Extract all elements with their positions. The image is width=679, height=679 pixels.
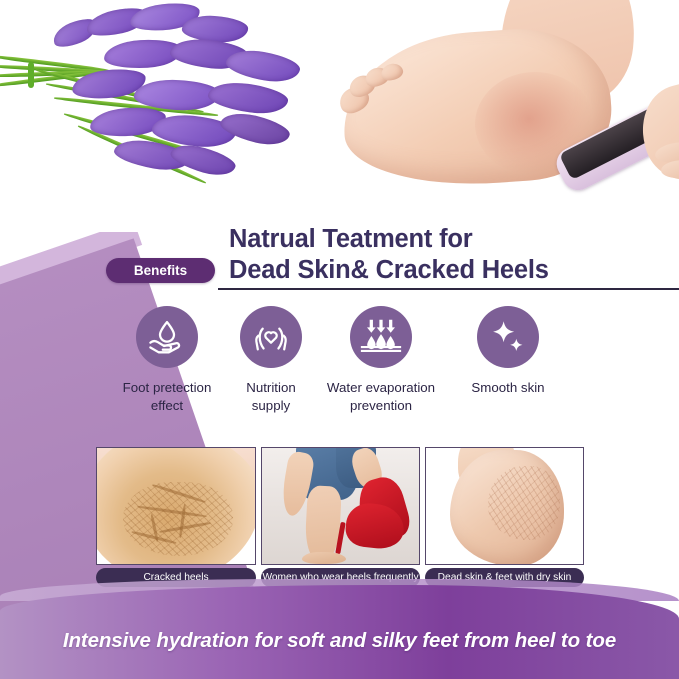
headline-line-2: Dead Skin& Cracked Heels	[229, 255, 659, 286]
benefit-item-nutrition-supply: Nutrition supply	[228, 306, 314, 414]
benefit-label: Water evaporation prevention	[327, 379, 435, 414]
benefit-label: Smooth skin	[471, 379, 544, 397]
sparkle-shine-icon	[477, 306, 539, 368]
foot-with-file-photo	[325, 0, 679, 232]
card-women-wear-heels: Women who wear heels frequently	[261, 447, 420, 587]
benefit-item-water-evaporation: Water evaporation prevention	[314, 306, 448, 414]
header-divider	[218, 288, 679, 290]
headline-line-1: Natrual Teatment for	[229, 225, 472, 253]
benefit-item-smooth-skin: Smooth skin	[448, 306, 568, 414]
benefit-item-foot-protection: Foot pretection effect	[106, 306, 228, 414]
cracked-heel-photo	[96, 447, 256, 565]
lavender-bouquet-photo	[0, 0, 324, 214]
page-title: Natrual Teatment for Dead Skin& Cracked …	[229, 224, 659, 286]
benefits-list: Foot pretection effect Nutrition supply	[106, 306, 576, 414]
card-dead-skin: Dead skin & feet with dry skin	[425, 447, 584, 587]
product-marketing-image: Natrual Teatment for Dead Skin& Cracked …	[0, 0, 679, 679]
hand-with-water-drop-icon	[136, 306, 198, 368]
hero-section	[0, 0, 679, 232]
card-cracked-heels: Cracked heels	[96, 447, 256, 587]
water-evaporation-arrows-icon	[350, 306, 412, 368]
condition-cards: Cracked heels Women who wear heels frequ…	[96, 447, 584, 587]
benefit-label: Nutrition supply	[246, 379, 296, 414]
hands-holding-heart-icon	[240, 306, 302, 368]
benefit-label: Foot pretection effect	[123, 379, 212, 414]
woman-with-heels-photo	[261, 447, 420, 565]
dry-heel-photo	[425, 447, 584, 565]
footer-slogan: Intensive hydration for soft and silky f…	[0, 629, 679, 653]
benefits-badge: Benefits	[106, 258, 215, 283]
